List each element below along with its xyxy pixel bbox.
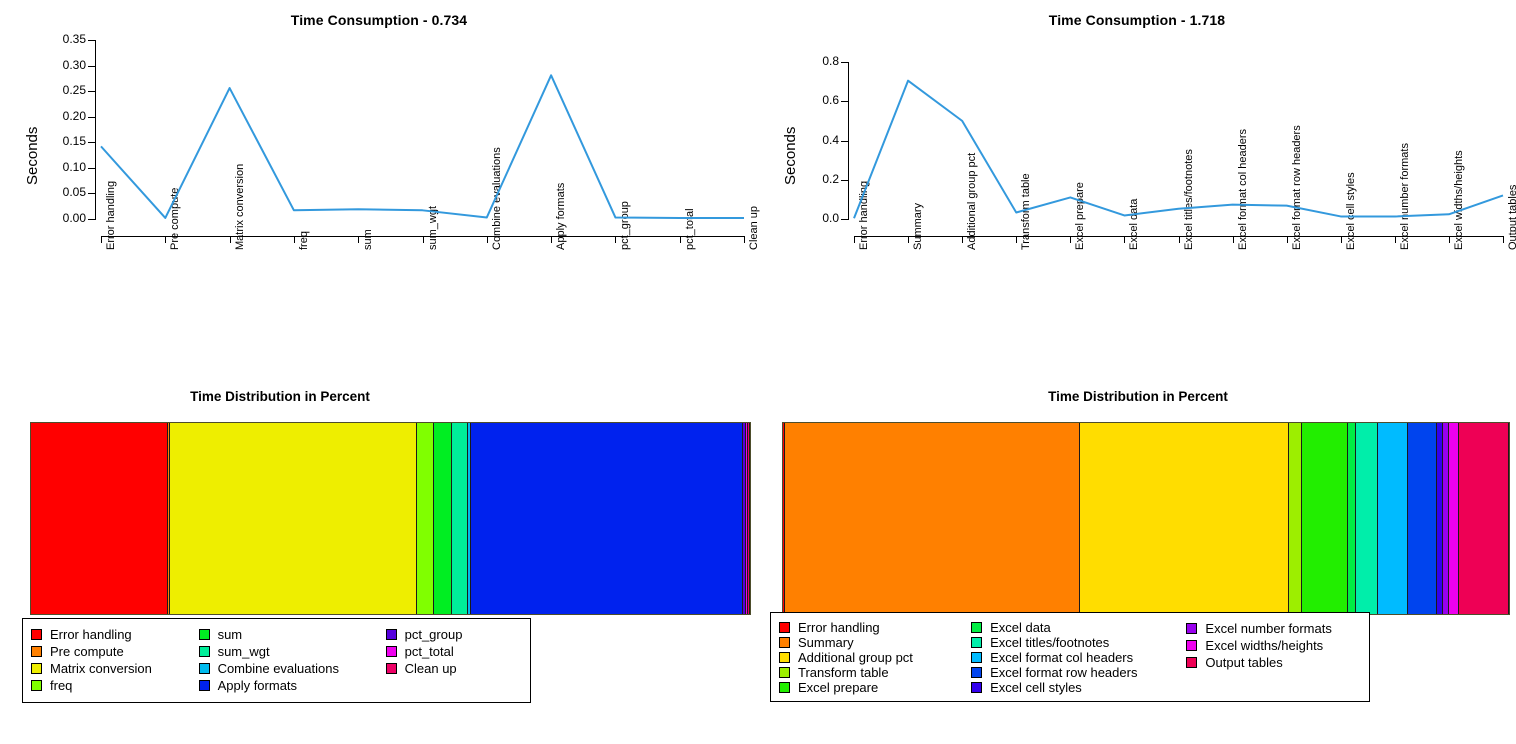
legend-color-swatch-icon [971, 622, 982, 633]
legend-column: sumsum_wgtCombine evaluationsApply forma… [199, 626, 386, 696]
legend-color-swatch-icon [971, 667, 982, 678]
legend-label: Error handling [798, 621, 880, 634]
legend-color-swatch-icon [779, 622, 790, 633]
legend-color-swatch-icon [386, 663, 397, 674]
legend-color-swatch-icon [1186, 640, 1197, 651]
legend-label: pct_group [405, 628, 463, 641]
legend-label: sum [218, 628, 243, 641]
stacked-bar-segment [1408, 423, 1437, 614]
legend-item: Error handling [31, 626, 199, 643]
legend-label: Pre compute [50, 645, 124, 658]
legend-label: freq [50, 679, 72, 692]
stacked-bar-segment [434, 423, 452, 614]
legend-color-swatch-icon [199, 680, 210, 691]
legend-color-swatch-icon [386, 629, 397, 640]
figure-canvas: Time Consumption - 0.734 Seconds 0.000.0… [0, 0, 1516, 744]
legend-label: Summary [798, 636, 854, 649]
right-bar-chart-title: Time Distribution in Percent [768, 389, 1508, 404]
legend-item: Transform table [779, 665, 971, 680]
legend-item: Clean up [386, 660, 522, 677]
left-panel: Time Consumption - 0.734 Seconds 0.000.0… [0, 0, 758, 744]
legend-color-swatch-icon [31, 680, 42, 691]
stacked-bar-segment [1302, 423, 1348, 614]
stacked-bar-segment [471, 423, 743, 614]
legend-label: Combine evaluations [218, 662, 339, 675]
legend-item: Excel format row headers [971, 665, 1186, 680]
stacked-bar-segment [452, 423, 468, 614]
legend-color-swatch-icon [199, 646, 210, 657]
legend-label: Excel data [990, 621, 1051, 634]
legend-color-swatch-icon [971, 652, 982, 663]
legend-label: Apply formats [218, 679, 297, 692]
legend-item: Excel prepare [779, 680, 971, 695]
legend-color-swatch-icon [199, 629, 210, 640]
legend-label: pct_total [405, 645, 454, 658]
legend-label: Excel cell styles [990, 681, 1082, 694]
legend-label: sum_wgt [218, 645, 270, 658]
legend-color-swatch-icon [779, 637, 790, 648]
legend-column: Excel number formatsExcel widths/heights… [1186, 620, 1361, 695]
legend-item: Error handling [779, 620, 971, 635]
legend-item: pct_total [386, 643, 522, 660]
legend-label: Excel number formats [1205, 622, 1331, 635]
legend-item: Summary [779, 635, 971, 650]
right-legend: Error handlingSummaryAdditional group pc… [770, 612, 1370, 702]
legend-item: Excel titles/footnotes [971, 635, 1186, 650]
legend-item: sum_wgt [199, 643, 386, 660]
stacked-bar-segment [1449, 423, 1459, 614]
legend-color-swatch-icon [31, 629, 42, 640]
left-stacked-bar [30, 422, 751, 615]
stacked-bar-segment [785, 423, 1079, 614]
legend-label: Transform table [798, 666, 889, 679]
legend-item: Output tables [1186, 654, 1361, 671]
legend-color-swatch-icon [971, 637, 982, 648]
legend-label: Excel titles/footnotes [990, 636, 1109, 649]
legend-color-swatch-icon [1186, 623, 1197, 634]
line-series [0, 0, 758, 380]
left-line-plot: 0.000.050.100.150.200.250.300.35Error ha… [0, 0, 758, 380]
legend-color-swatch-icon [31, 663, 42, 674]
right-panel: Time Consumption - 1.718 Seconds 0.00.20… [758, 0, 1516, 744]
legend-item: freq [31, 677, 199, 694]
legend-label: Excel format col headers [990, 651, 1133, 664]
legend-color-swatch-icon [971, 682, 982, 693]
legend-item: Excel data [971, 620, 1186, 635]
stacked-bar-segment [1356, 423, 1378, 614]
legend-color-swatch-icon [1186, 657, 1197, 668]
legend-label: Matrix conversion [50, 662, 152, 675]
legend-item: sum [199, 626, 386, 643]
stacked-bar-segment [1348, 423, 1356, 614]
legend-label: Additional group pct [798, 651, 913, 664]
left-legend: Error handlingPre computeMatrix conversi… [22, 618, 531, 703]
stacked-bar-segment [1289, 423, 1303, 614]
legend-item: Pre compute [31, 643, 199, 660]
legend-label: Error handling [50, 628, 132, 641]
legend-color-swatch-icon [31, 646, 42, 657]
legend-color-swatch-icon [779, 652, 790, 663]
legend-column: Error handlingSummaryAdditional group pc… [779, 620, 971, 695]
right-line-plot: 0.00.20.40.60.8Error handlingSummaryAddi… [758, 0, 1516, 380]
legend-label: Clean up [405, 662, 457, 675]
stacked-bar-segment [1080, 423, 1289, 614]
left-bar-chart-title: Time Distribution in Percent [0, 389, 560, 404]
line-series [758, 0, 1516, 380]
legend-label: Output tables [1205, 656, 1282, 669]
legend-label: Excel format row headers [990, 666, 1137, 679]
legend-item: Apply formats [199, 677, 386, 694]
stacked-bar-segment [417, 423, 433, 614]
legend-color-swatch-icon [386, 646, 397, 657]
legend-label: Excel prepare [798, 681, 878, 694]
stacked-bar-segment [170, 423, 417, 614]
legend-color-swatch-icon [779, 667, 790, 678]
legend-item: Combine evaluations [199, 660, 386, 677]
legend-item: Excel widths/heights [1186, 637, 1361, 654]
stacked-bar-segment [31, 423, 168, 614]
legend-label: Excel widths/heights [1205, 639, 1323, 652]
stacked-bar-segment [1378, 423, 1409, 614]
legend-color-swatch-icon [779, 682, 790, 693]
legend-item: Additional group pct [779, 650, 971, 665]
legend-column: Excel dataExcel titles/footnotesExcel fo… [971, 620, 1186, 695]
stacked-bar-segment [1459, 423, 1509, 614]
right-stacked-bar [782, 422, 1510, 615]
stacked-bar-segment [748, 423, 750, 614]
legend-item: Excel format col headers [971, 650, 1186, 665]
legend-item: Matrix conversion [31, 660, 199, 677]
legend-column: pct_grouppct_totalClean up [386, 626, 522, 696]
legend-item: Excel number formats [1186, 620, 1361, 637]
legend-item: pct_group [386, 626, 522, 643]
legend-color-swatch-icon [199, 663, 210, 674]
legend-column: Error handlingPre computeMatrix conversi… [31, 626, 199, 696]
legend-item: Excel cell styles [971, 680, 1186, 695]
